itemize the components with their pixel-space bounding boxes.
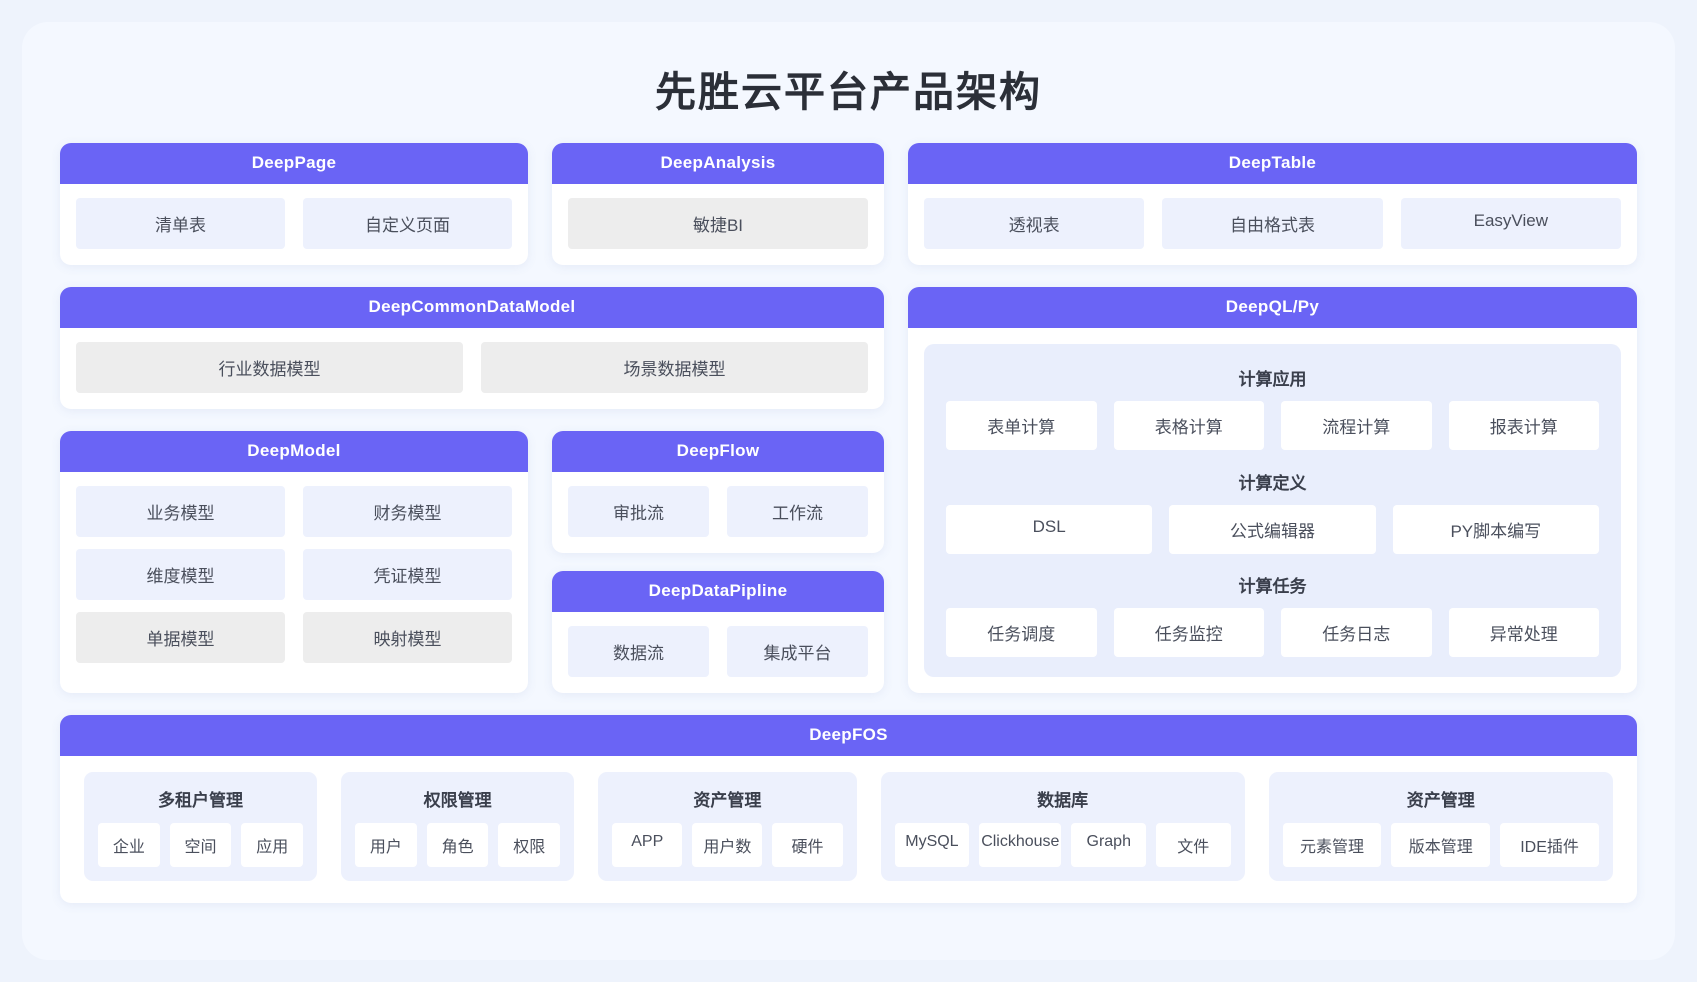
card-deepfos[interactable]: DeepFOS 多租户管理 企业 空间 应用 权限管理 用户 bbox=[60, 715, 1637, 903]
chip-pingzhengmoxing[interactable]: 凭证模型 bbox=[303, 549, 512, 600]
card-deepqlpy-body: 计算应用 表单计算 表格计算 流程计算 报表计算 计算定义 bbox=[908, 328, 1637, 693]
card-deepcommondatamodel-title: DeepCommonDataModel bbox=[60, 287, 884, 328]
fos-chip-graph[interactable]: Graph bbox=[1071, 823, 1146, 867]
screenshot-root: 先胜云平台产品架构 DeepPage 清单表 自定义页面 DeepAnalysi… bbox=[0, 0, 1697, 982]
chip-qingdanbiao[interactable]: 清单表 bbox=[76, 198, 285, 249]
card-deepflow-body: 审批流 工作流 bbox=[552, 472, 884, 553]
chip-gongzuoliu[interactable]: 工作流 bbox=[727, 486, 868, 537]
card-deeptable[interactable]: DeepTable 透视表 自由格式表 EasyView bbox=[908, 143, 1637, 265]
chip-yingshemoxing[interactable]: 映射模型 bbox=[303, 612, 512, 663]
chip-row: 任务调度 任务监控 任务日志 异常处理 bbox=[946, 608, 1599, 657]
ql-group-jisuanyingyong: 计算应用 表单计算 表格计算 流程计算 报表计算 bbox=[946, 358, 1599, 450]
chip-renwurizhi[interactable]: 任务日志 bbox=[1281, 608, 1432, 657]
card-deepdatapipline[interactable]: DeepDataPipline 数据流 集成平台 bbox=[552, 571, 884, 693]
card-deepanalysis[interactable]: DeepAnalysis 敏捷BI bbox=[552, 143, 884, 265]
fos-chip-clickhouse[interactable]: Clickhouse bbox=[979, 823, 1061, 867]
chip-renwudiaodu[interactable]: 任务调度 bbox=[946, 608, 1097, 657]
chip-shenpiliu[interactable]: 审批流 bbox=[568, 486, 709, 537]
chip-row: 数据流 集成平台 bbox=[568, 626, 868, 677]
card-deeppage[interactable]: DeepPage 清单表 自定义页面 bbox=[60, 143, 528, 265]
chip-row: 敏捷BI bbox=[568, 198, 868, 249]
card-deepmodel-title: DeepModel bbox=[60, 431, 528, 472]
fos-group-zichanguanli-2: 资产管理 元素管理 版本管理 IDE插件 bbox=[1269, 772, 1613, 881]
card-deepmodel-body: 业务模型 财务模型 维度模型 凭证模型 单据模型 映射模型 bbox=[60, 472, 528, 693]
fos-chip-kongjian[interactable]: 空间 bbox=[170, 823, 232, 867]
fos-chip-yuansuguanli[interactable]: 元素管理 bbox=[1283, 823, 1382, 867]
fos-group-title: 资产管理 bbox=[1283, 786, 1599, 811]
architecture-canvas: 先胜云平台产品架构 DeepPage 清单表 自定义页面 DeepAnalysi… bbox=[22, 22, 1675, 960]
fos-chip-idechajian[interactable]: IDE插件 bbox=[1500, 823, 1599, 867]
card-deepanalysis-title: DeepAnalysis bbox=[552, 143, 884, 184]
fos-chip-row: 用户 角色 权限 bbox=[355, 823, 560, 867]
chip-weidumoxing[interactable]: 维度模型 bbox=[76, 549, 285, 600]
chip-renwujiankong[interactable]: 任务监控 bbox=[1114, 608, 1265, 657]
card-deepflow-title: DeepFlow bbox=[552, 431, 884, 472]
fos-chip-row: 元素管理 版本管理 IDE插件 bbox=[1283, 823, 1599, 867]
fos-group-shujuku: 数据库 MySQL Clickhouse Graph 文件 bbox=[881, 772, 1245, 881]
middle-left-lower-row: DeepModel 业务模型 财务模型 维度模型 凭证模型 单据 bbox=[60, 431, 884, 693]
chip-row: 维度模型 凭证模型 bbox=[76, 549, 512, 600]
card-deepcommondatamodel[interactable]: DeepCommonDataModel 行业数据模型 场景数据模型 bbox=[60, 287, 884, 409]
ql-group-title: 计算应用 bbox=[946, 365, 1599, 390]
fos-chip-yonghushu[interactable]: 用户数 bbox=[692, 823, 762, 867]
chip-row: 审批流 工作流 bbox=[568, 486, 868, 537]
fos-chip-yingjian[interactable]: 硬件 bbox=[772, 823, 842, 867]
fos-chip-jiaose[interactable]: 角色 bbox=[427, 823, 489, 867]
fos-chip-row: 企业 空间 应用 bbox=[98, 823, 303, 867]
top-row: DeepPage 清单表 自定义页面 DeepAnalysis 敏捷BI D bbox=[60, 143, 1637, 265]
ql-group-jisuanrenwu: 计算任务 任务调度 任务监控 任务日志 异常处理 bbox=[946, 565, 1599, 657]
fos-group-quanxianguanli: 权限管理 用户 角色 权限 bbox=[341, 772, 574, 881]
chip-row: 单据模型 映射模型 bbox=[76, 612, 512, 663]
chip-zidingyiyemian[interactable]: 自定义页面 bbox=[303, 198, 512, 249]
chip-changjingshujumoxing[interactable]: 场景数据模型 bbox=[481, 342, 868, 393]
fos-group-title: 资产管理 bbox=[612, 786, 842, 811]
card-deepfos-title: DeepFOS bbox=[60, 715, 1637, 756]
fos-chip-banbenguanli[interactable]: 版本管理 bbox=[1391, 823, 1490, 867]
card-deepfos-body: 多租户管理 企业 空间 应用 权限管理 用户 角色 权限 bbox=[60, 756, 1637, 903]
middle-section: DeepCommonDataModel 行业数据模型 场景数据模型 DeepMo… bbox=[60, 287, 1637, 693]
card-deepflow[interactable]: DeepFlow 审批流 工作流 bbox=[552, 431, 884, 553]
chip-jichengpingtai[interactable]: 集成平台 bbox=[727, 626, 868, 677]
card-deepanalysis-body: 敏捷BI bbox=[552, 184, 884, 265]
fos-chip-yingyong[interactable]: 应用 bbox=[241, 823, 303, 867]
ql-group-jisuandingyi: 计算定义 DSL 公式编辑器 PY脚本编写 bbox=[946, 462, 1599, 554]
chip-minjiebi[interactable]: 敏捷BI bbox=[568, 198, 868, 249]
deepqlpy-inner-panel: 计算应用 表单计算 表格计算 流程计算 报表计算 计算定义 bbox=[924, 344, 1621, 677]
fos-chip-row: APP 用户数 硬件 bbox=[612, 823, 842, 867]
fos-chip-quanxian[interactable]: 权限 bbox=[498, 823, 560, 867]
chip-yewumoxing[interactable]: 业务模型 bbox=[76, 486, 285, 537]
chip-biaogejisuan[interactable]: 表格计算 bbox=[1114, 401, 1265, 450]
chip-easyview[interactable]: EasyView bbox=[1401, 198, 1621, 249]
fos-chip-mysql[interactable]: MySQL bbox=[895, 823, 970, 867]
card-deeptable-title: DeepTable bbox=[908, 143, 1637, 184]
fos-chip-qiye[interactable]: 企业 bbox=[98, 823, 160, 867]
chip-caiwumoxing[interactable]: 财务模型 bbox=[303, 486, 512, 537]
card-deeppage-body: 清单表 自定义页面 bbox=[60, 184, 528, 265]
fos-group-title: 数据库 bbox=[895, 786, 1231, 811]
fos-chip-wenjian[interactable]: 文件 bbox=[1156, 823, 1231, 867]
chip-liuchengjisuan[interactable]: 流程计算 bbox=[1281, 401, 1432, 450]
card-deeppage-title: DeepPage bbox=[60, 143, 528, 184]
card-deepqlpy[interactable]: DeepQL/Py 计算应用 表单计算 表格计算 流程计算 报表计算 bbox=[908, 287, 1637, 693]
page-title: 先胜云平台产品架构 bbox=[60, 70, 1637, 115]
chip-dsl[interactable]: DSL bbox=[946, 505, 1152, 554]
chip-row: 表单计算 表格计算 流程计算 报表计算 bbox=[946, 401, 1599, 450]
chip-row: 行业数据模型 场景数据模型 bbox=[76, 342, 868, 393]
card-deepcommondatamodel-body: 行业数据模型 场景数据模型 bbox=[60, 328, 884, 409]
fos-chip-row: MySQL Clickhouse Graph 文件 bbox=[895, 823, 1231, 867]
card-deepmodel[interactable]: DeepModel 业务模型 财务模型 维度模型 凭证模型 单据 bbox=[60, 431, 528, 693]
chip-row: 业务模型 财务模型 bbox=[76, 486, 512, 537]
chip-hangyeshujumoxing[interactable]: 行业数据模型 bbox=[76, 342, 463, 393]
chip-danjumoxing[interactable]: 单据模型 bbox=[76, 612, 285, 663]
card-deepdatapipline-body: 数据流 集成平台 bbox=[552, 612, 884, 693]
ql-group-title: 计算定义 bbox=[946, 469, 1599, 494]
chip-row: DSL 公式编辑器 PY脚本编写 bbox=[946, 505, 1599, 554]
chip-gongshibianjiqi[interactable]: 公式编辑器 bbox=[1169, 505, 1375, 554]
fos-group-title: 多租户管理 bbox=[98, 786, 303, 811]
chip-pyjiaobenbianxie[interactable]: PY脚本编写 bbox=[1393, 505, 1599, 554]
middle-right-column: DeepQL/Py 计算应用 表单计算 表格计算 流程计算 报表计算 bbox=[908, 287, 1637, 693]
chip-row: 透视表 自由格式表 EasyView bbox=[924, 198, 1621, 249]
deepfos-group-row: 多租户管理 企业 空间 应用 权限管理 用户 角色 权限 bbox=[84, 772, 1613, 881]
chip-ziyougeshibiao[interactable]: 自由格式表 bbox=[1162, 198, 1382, 249]
fos-group-title: 权限管理 bbox=[355, 786, 560, 811]
middle-left-column: DeepCommonDataModel 行业数据模型 场景数据模型 DeepMo… bbox=[60, 287, 884, 693]
fos-chip-app[interactable]: APP bbox=[612, 823, 682, 867]
card-deeptable-body: 透视表 自由格式表 EasyView bbox=[908, 184, 1637, 265]
chip-toushibiao[interactable]: 透视表 bbox=[924, 198, 1144, 249]
chip-baobiaojisuan[interactable]: 报表计算 bbox=[1449, 401, 1600, 450]
fos-group-zichanguanli-1: 资产管理 APP 用户数 硬件 bbox=[598, 772, 856, 881]
fos-chip-yonghu[interactable]: 用户 bbox=[355, 823, 417, 867]
card-deepqlpy-title: DeepQL/Py bbox=[908, 287, 1637, 328]
chip-row: 清单表 自定义页面 bbox=[76, 198, 512, 249]
chip-shujuliu[interactable]: 数据流 bbox=[568, 626, 709, 677]
fos-group-duozuhuguanli: 多租户管理 企业 空间 应用 bbox=[84, 772, 317, 881]
card-deepdatapipline-title: DeepDataPipline bbox=[552, 571, 884, 612]
chip-biaodanjisuan[interactable]: 表单计算 bbox=[946, 401, 1097, 450]
ql-group-title: 计算任务 bbox=[946, 572, 1599, 597]
flow-stack: DeepFlow 审批流 工作流 DeepDataPipline bbox=[552, 431, 884, 693]
chip-yichangchuli[interactable]: 异常处理 bbox=[1449, 608, 1600, 657]
